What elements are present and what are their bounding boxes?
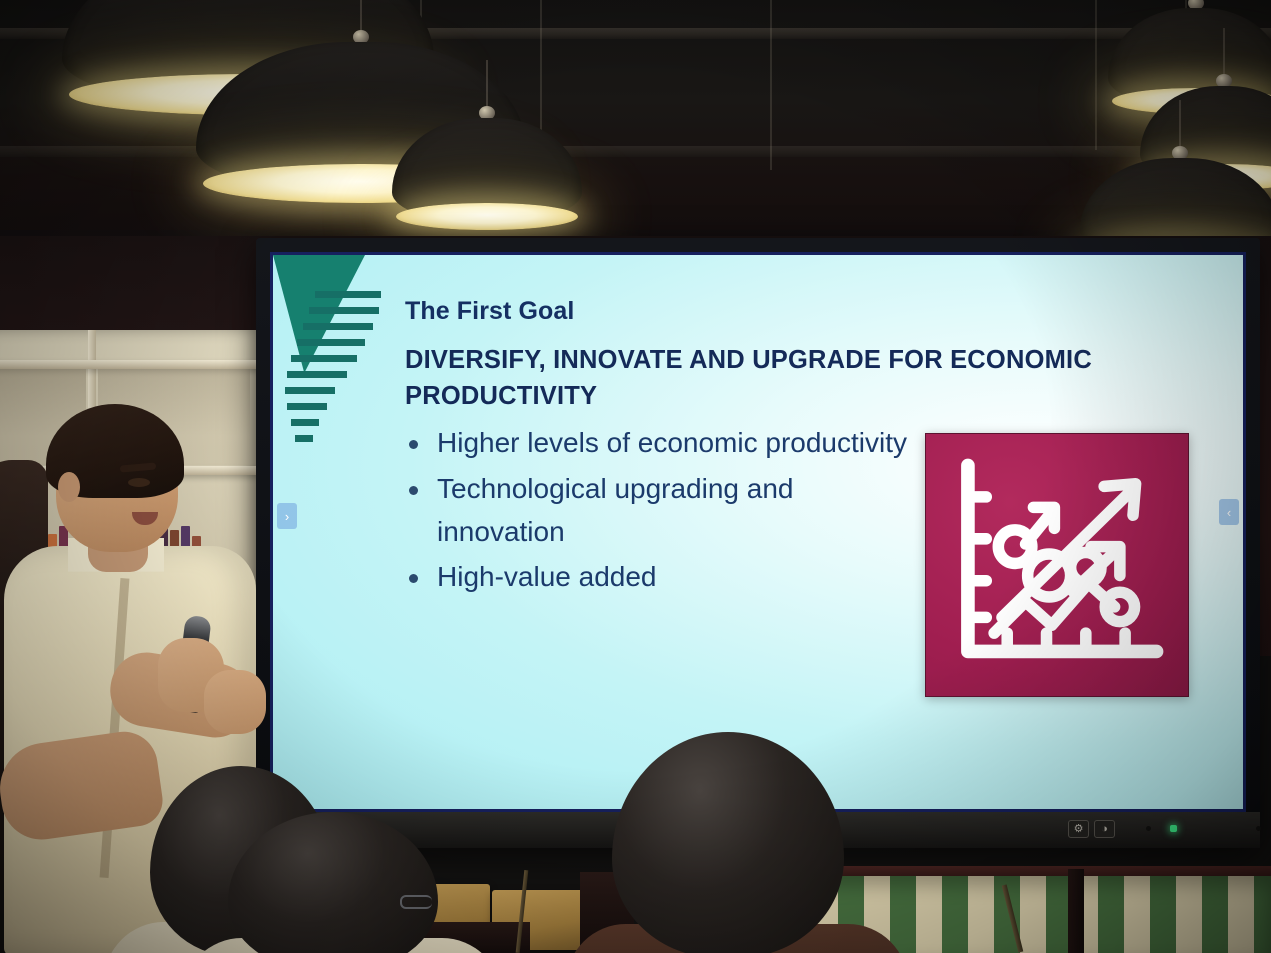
presenter-ear [58, 472, 80, 502]
bezel-screw-right [1256, 826, 1261, 831]
presentation-room-photo: The First Goal DIVERSIFY, INNOVATE AND U… [0, 0, 1271, 953]
presenter-hand-lower [204, 670, 266, 734]
triangle-stripe-9 [291, 419, 319, 426]
triangle-decoration [273, 255, 385, 461]
power-icon[interactable]: ⚙ [1068, 820, 1089, 838]
triangle-stripe-7 [285, 387, 335, 394]
display-screen: The First Goal DIVERSIFY, INNOVATE AND U… [270, 252, 1246, 812]
ceiling-rail-3 [770, 0, 772, 170]
shelf-board-1 [0, 360, 260, 369]
ceiling-beam-lower [0, 146, 1271, 157]
slide-bullet-item: Higher levels of economic productivity [405, 422, 925, 465]
slide-kicker: The First Goal [405, 297, 1221, 326]
triangle-stripe-5 [291, 355, 357, 362]
slide-bullet-list: Higher levels of economic productivityTe… [405, 422, 925, 598]
slide-bullet-item: Technological upgrading and innovation [405, 468, 925, 553]
slide-prev-button[interactable]: ‹ [1219, 499, 1239, 525]
power-led-indicator [1170, 825, 1177, 832]
economic-growth-chart-icon [925, 433, 1189, 697]
slide-title: DIVERSIFY, INNOVATE AND UPGRADE FOR ECON… [405, 342, 1246, 414]
input-source-icon-glyph: ◑ [1101, 824, 1108, 835]
input-source-icon[interactable]: ◑ [1094, 820, 1115, 838]
ceiling-rail-4 [1095, 0, 1097, 150]
slide-bullet-item: High-value added [405, 556, 925, 599]
triangle-stripe-8 [287, 403, 327, 410]
power-icon-glyph: ⚙ [1074, 824, 1084, 835]
presentation-slide: The First Goal DIVERSIFY, INNOVATE AND U… [270, 252, 1246, 812]
bezel-screw-left [1146, 826, 1151, 831]
triangle-stripe-3 [303, 323, 373, 330]
triangle-stripe-10 [295, 435, 313, 442]
triangle-stripe-2 [309, 307, 379, 314]
presenter-eye [128, 478, 150, 487]
triangle-stripe-6 [287, 371, 347, 378]
pendant-lamp-3 [392, 118, 582, 224]
triangle-stripe-1 [315, 291, 381, 298]
triangle-stripe-4 [297, 339, 365, 346]
bench-post-1 [1068, 869, 1084, 953]
